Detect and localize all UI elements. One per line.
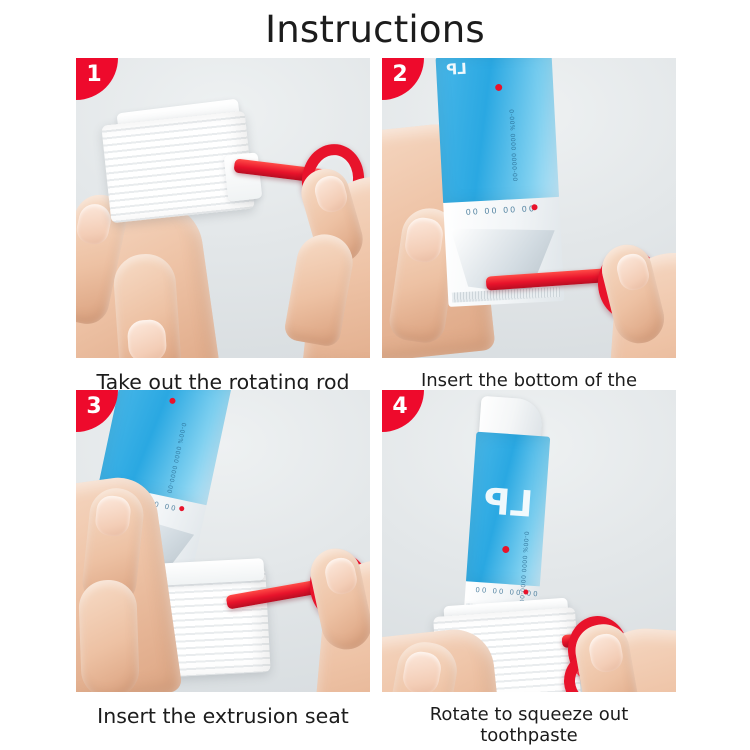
- step-photo-4: LP 0-00% 0000 0000-00 00 00 00 00: [382, 390, 676, 692]
- scene-insert-bottom: LP 0-00% 0000 0000-00 00 00 00 00: [382, 58, 676, 358]
- step-card-3: LP 0-00% 0000 0000-00 00 00 00 00: [76, 390, 370, 729]
- scene-take-out-rod: [76, 58, 370, 358]
- step-caption-3: Insert the extrusion seat: [76, 692, 370, 729]
- steps-grid: 1 Take out the rotating rod LP: [76, 58, 676, 738]
- step-card-2: LP 0-00% 0000 0000-00 00 00 00 00: [382, 58, 676, 412]
- toothpaste-tube: LP 0-00% 0000 0000-00 00 00 00 00: [464, 432, 551, 619]
- step-photo-3: LP 0-00% 0000 0000-00 00 00 00 00: [76, 390, 370, 692]
- step-photo-1: 1: [76, 58, 370, 358]
- step-card-1: 1 Take out the rotating rod: [76, 58, 370, 395]
- tube-blue-section: [436, 58, 560, 205]
- toothpaste-tube: LP 0-00% 0000 0000-00 00 00 00 00: [436, 58, 565, 307]
- page-title: Instructions: [0, 8, 750, 51]
- scene-rotate-squeeze: LP 0-00% 0000 0000-00 00 00 00 00: [382, 390, 676, 692]
- step-caption-4: Rotate to squeeze out toothpaste: [382, 692, 676, 746]
- scene-insert-seat: LP 0-00% 0000 0000-00 00 00 00 00: [76, 390, 370, 692]
- tube-brand-mark: LP: [482, 484, 534, 523]
- tube-brand-mark: LP: [446, 62, 467, 78]
- left-index-nail: [127, 319, 168, 358]
- instructions-page: Instructions: [0, 0, 750, 750]
- step-card-4: LP 0-00% 0000 0000-00 00 00 00 00: [382, 390, 676, 746]
- step-photo-2: LP 0-00% 0000 0000-00 00 00 00 00: [382, 58, 676, 358]
- left-middle-finger: [78, 579, 140, 692]
